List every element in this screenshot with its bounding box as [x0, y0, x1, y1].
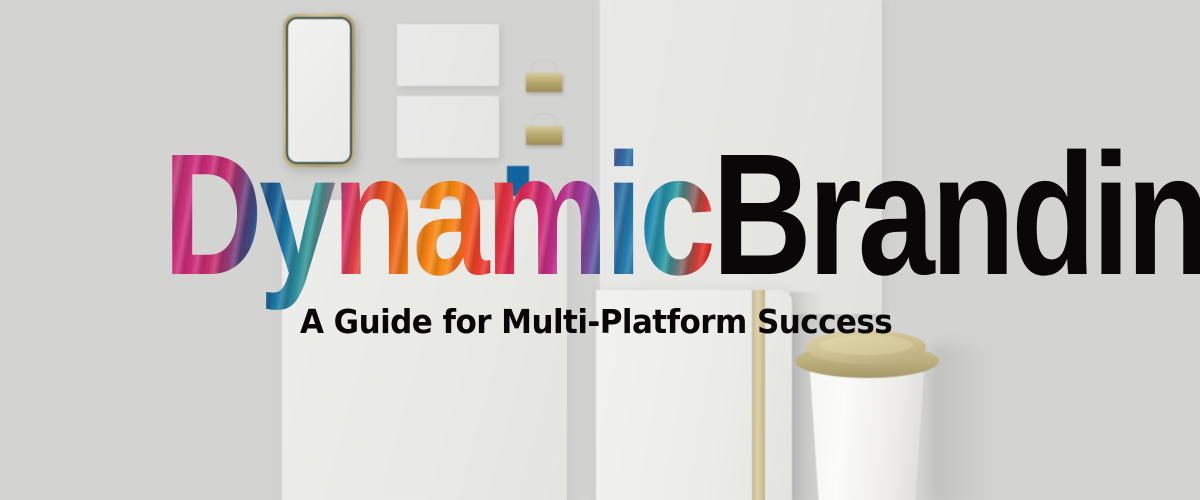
binder-clip-bottom	[526, 113, 562, 145]
coffee-cup-shadow	[930, 345, 992, 500]
blue-color-swatch	[507, 166, 529, 196]
backdrop-panel	[600, 0, 882, 314]
coffee-cup-lid-top	[819, 335, 913, 355]
phone-bezel	[286, 17, 352, 164]
coffee-cup	[795, 330, 939, 500]
phone-screen	[288, 19, 350, 162]
coffee-cup-body	[804, 358, 930, 500]
business-card-top	[397, 24, 499, 86]
binder-clip-top	[526, 60, 562, 92]
paper-sheet	[282, 200, 567, 500]
background-scene	[0, 0, 1200, 500]
binder-clip-body	[526, 126, 562, 145]
smartphone-mockup	[283, 14, 355, 167]
notebook-elastic-band	[752, 290, 765, 500]
binder-clip-body	[526, 73, 562, 92]
business-card-bottom	[397, 96, 499, 158]
banner-canvas: DynamicBranding A Guide for Multi-Platfo…	[0, 0, 1200, 500]
